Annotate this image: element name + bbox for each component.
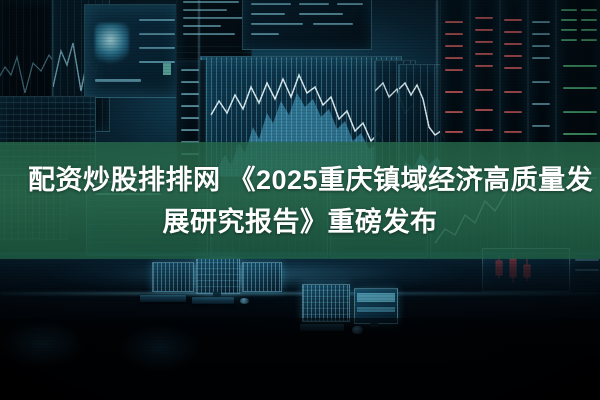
wall-monitor-feature xyxy=(84,4,182,98)
desk-edge-highlight xyxy=(0,292,600,295)
chairs-foreground xyxy=(0,318,600,400)
desk-reflection xyxy=(30,256,570,302)
desktop-monitor xyxy=(302,284,350,322)
mouse xyxy=(240,298,249,304)
desktop-monitor xyxy=(242,262,282,292)
desktop-monitor xyxy=(152,262,194,292)
keyboard xyxy=(140,295,186,302)
keyboard xyxy=(192,297,234,304)
banner-image: 配资炒股排排网 《2025重庆镇域经济高质量发 展研究报告》重磅发布 xyxy=(0,0,600,400)
wall-monitor xyxy=(242,0,372,50)
screen-glow-blob xyxy=(95,23,129,65)
caption-line-1: 配资炒股排排网 《2025重庆镇域经济高质量发 xyxy=(28,159,593,201)
caption-line-2: 展研究报告》重磅发布 xyxy=(163,201,438,243)
desktop-monitor xyxy=(196,258,240,294)
caption-text-block: 配资炒股排排网 《2025重庆镇域经济高质量发 展研究报告》重磅发布 xyxy=(0,142,600,259)
